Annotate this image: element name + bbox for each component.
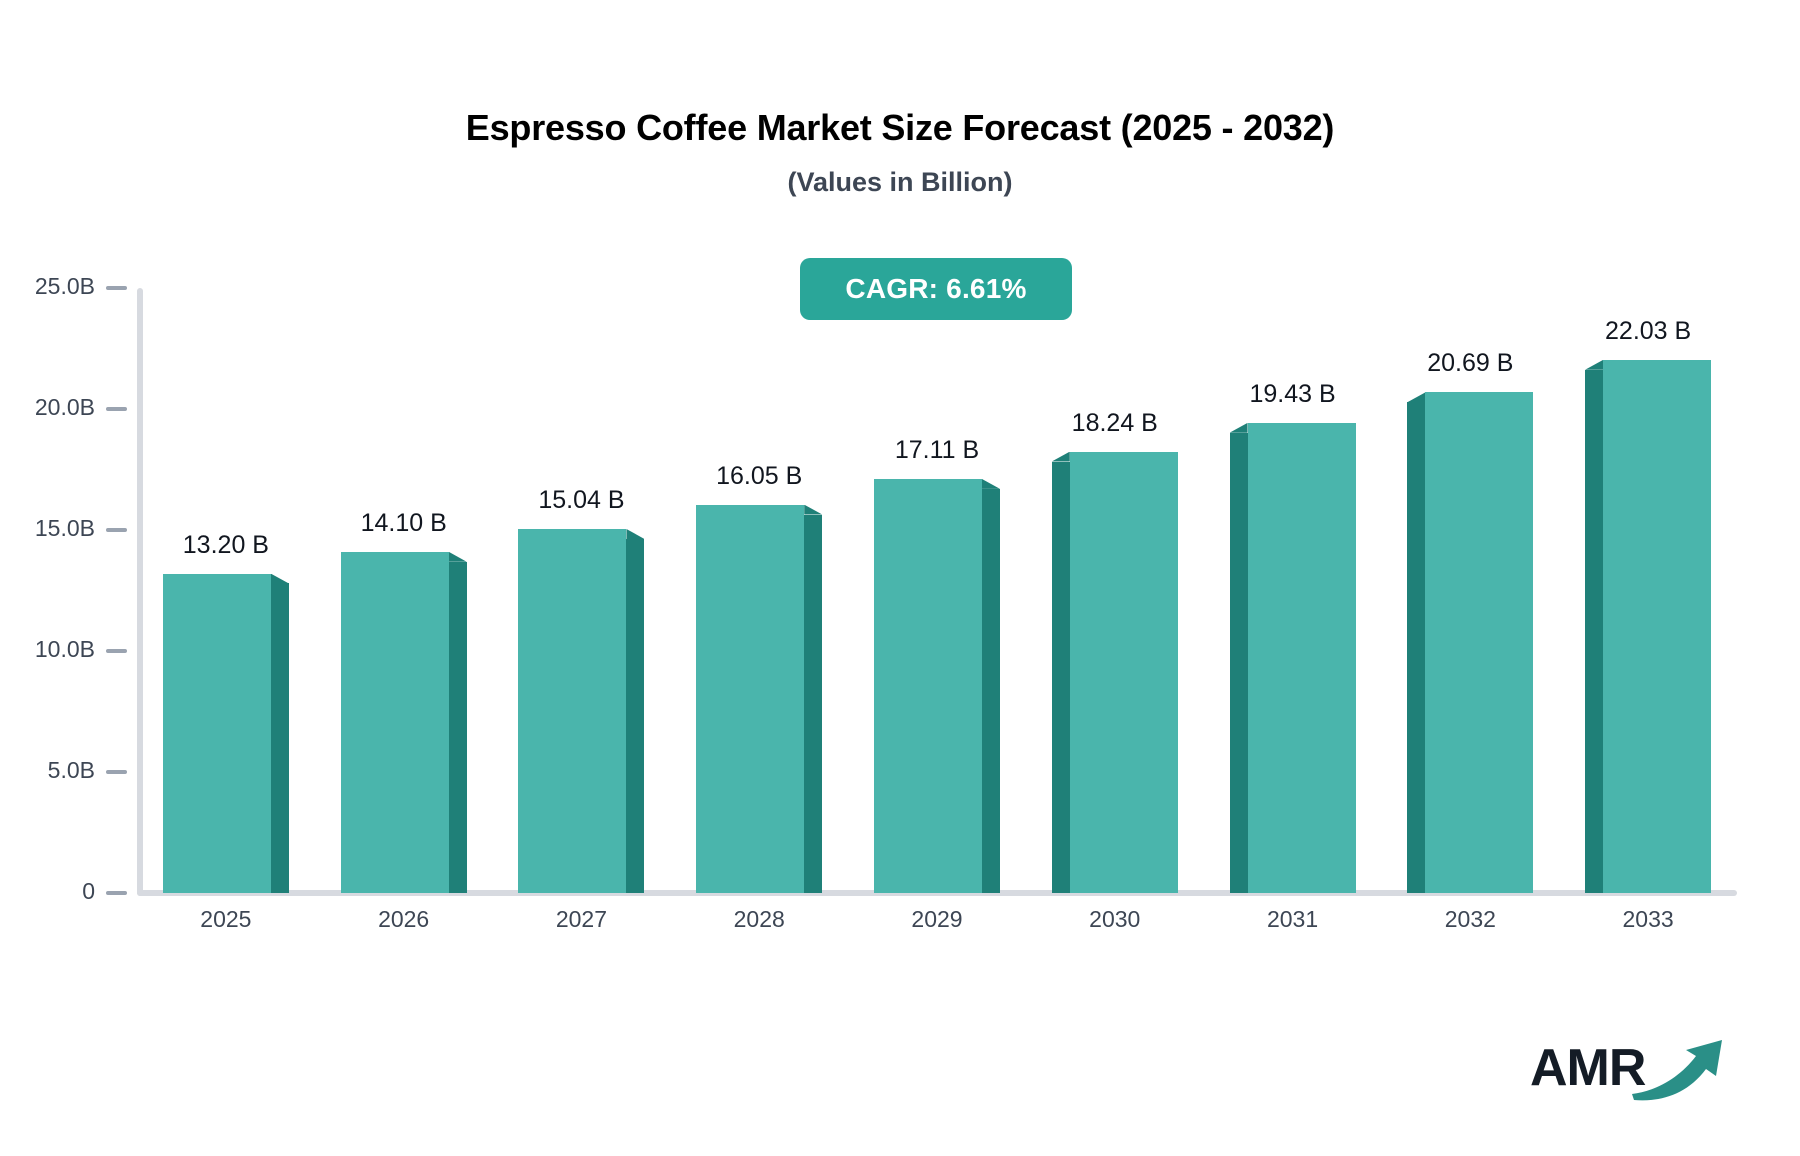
bar-side-face bbox=[1230, 433, 1248, 893]
bar[interactable] bbox=[1585, 288, 1711, 893]
bar[interactable] bbox=[518, 288, 644, 893]
bar-front-face bbox=[874, 479, 982, 893]
bar-front-face bbox=[341, 552, 449, 893]
bar-side-face bbox=[804, 515, 822, 894]
bar-value-label: 17.11 B bbox=[807, 436, 1067, 465]
y-axis-tick-label: 0 bbox=[82, 878, 95, 905]
bar[interactable] bbox=[1230, 288, 1356, 893]
bar-front-face bbox=[1603, 360, 1711, 893]
x-axis-label: 2025 bbox=[126, 906, 326, 933]
bar-front-face bbox=[1248, 423, 1356, 893]
bar[interactable] bbox=[1407, 288, 1533, 893]
y-axis-tick-label: 25.0B bbox=[35, 273, 95, 300]
x-axis-label: 2029 bbox=[837, 906, 1037, 933]
page-title: Espresso Coffee Market Size Forecast (20… bbox=[0, 108, 1800, 148]
y-axis-tick-mark bbox=[106, 286, 127, 290]
bar-top-bevel bbox=[271, 574, 289, 584]
y-axis-tick-label: 15.0B bbox=[35, 515, 95, 542]
bar-side-face bbox=[1407, 402, 1425, 893]
bar-side-face bbox=[271, 583, 289, 893]
x-axis-label: 2032 bbox=[1370, 906, 1570, 933]
bar-side-face bbox=[626, 539, 644, 893]
chart-subtitle: (Values in Billion) bbox=[0, 168, 1800, 198]
y-axis-tick-mark bbox=[106, 649, 127, 653]
bar-front-face bbox=[1425, 392, 1533, 893]
bar-front-face bbox=[518, 529, 626, 893]
bar[interactable] bbox=[163, 288, 289, 893]
y-axis-tick-mark bbox=[106, 770, 127, 774]
amr-logo-text: AMR bbox=[1530, 1038, 1645, 1098]
x-axis-label: 2027 bbox=[481, 906, 681, 933]
bars-layer bbox=[137, 288, 1737, 893]
bar-side-face bbox=[982, 489, 1000, 893]
bar-top-bevel bbox=[804, 505, 822, 515]
bar-front-face bbox=[696, 505, 804, 893]
chart-container: Espresso Coffee Market Size Forecast (20… bbox=[0, 0, 1800, 1156]
y-axis-tick-label: 5.0B bbox=[48, 757, 95, 784]
bar[interactable] bbox=[341, 288, 467, 893]
bar[interactable] bbox=[696, 288, 822, 893]
x-axis-label: 2026 bbox=[304, 906, 504, 933]
bar-side-face bbox=[449, 562, 467, 893]
x-axis-label: 2033 bbox=[1548, 906, 1748, 933]
bar-front-face bbox=[163, 574, 271, 893]
bar[interactable] bbox=[1052, 288, 1178, 893]
bar-top-bevel bbox=[982, 479, 1000, 489]
bar-value-label: 18.24 B bbox=[985, 409, 1245, 438]
bar-side-face bbox=[1585, 370, 1603, 893]
bar-value-label: 16.05 B bbox=[629, 462, 889, 491]
title-block: Espresso Coffee Market Size Forecast (20… bbox=[0, 108, 1800, 197]
y-axis-tick-mark bbox=[106, 407, 127, 411]
bar[interactable] bbox=[874, 288, 1000, 893]
y-axis-tick-label: 20.0B bbox=[35, 394, 95, 421]
y-axis-tick-label: 10.0B bbox=[35, 636, 95, 663]
x-axis-label: 2030 bbox=[1015, 906, 1215, 933]
bar-front-face bbox=[1070, 452, 1178, 893]
bar-value-label: 22.03 B bbox=[1518, 317, 1778, 346]
bar-value-label: 19.43 B bbox=[1163, 380, 1423, 409]
amr-logo: AMR bbox=[1530, 1036, 1730, 1110]
bar-top-bevel bbox=[449, 552, 467, 562]
bar-top-bevel bbox=[626, 529, 644, 539]
x-axis-label: 2031 bbox=[1193, 906, 1393, 933]
y-axis-tick-mark bbox=[106, 891, 127, 895]
growth-arrow-icon bbox=[1630, 1036, 1730, 1102]
bar-value-label: 20.69 B bbox=[1340, 349, 1600, 378]
bar-side-face bbox=[1052, 462, 1070, 894]
x-axis-label: 2028 bbox=[659, 906, 859, 933]
